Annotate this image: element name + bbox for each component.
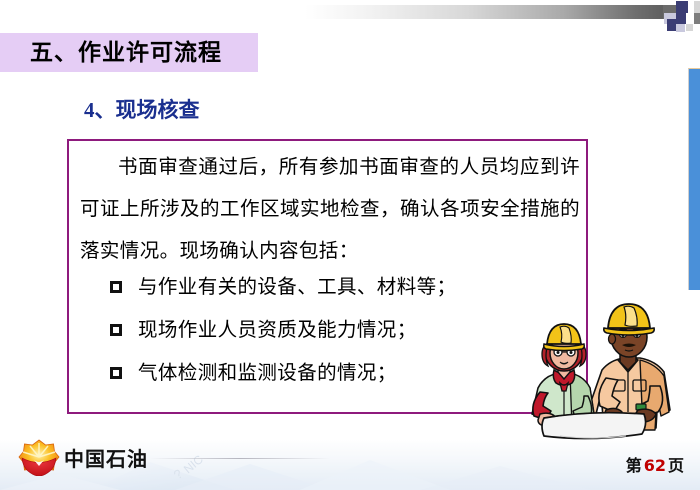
checker-square-white-2	[686, 13, 694, 24]
page-number-value: 62	[642, 456, 668, 475]
two-workers-with-blueprint-illustration	[500, 300, 700, 450]
list-item: 气体检测和监测设备的情况；	[110, 358, 540, 401]
checker-square-navy-3	[667, 19, 676, 31]
page-number-prefix: 第	[626, 456, 642, 475]
brand-label: 中国石油	[64, 443, 148, 472]
bullet-list: 与作业有关的设备、工具、材料等； 现场作业人员资质及能力情况； 气体检测和监测设…	[110, 272, 540, 401]
footer-divider-line	[150, 458, 330, 459]
slide-canvas: 五、作业许可流程 4、现场核查 书面审查通过后，所有参加书面审查的人员均应到许可…	[0, 0, 700, 490]
page-number: 第62页	[626, 452, 684, 476]
hollow-square-bullet-icon	[110, 281, 122, 293]
section-subtitle: 4、现场核查	[84, 94, 200, 124]
hollow-square-bullet-icon	[110, 367, 122, 379]
list-item: 与作业有关的设备、工具、材料等；	[110, 272, 540, 315]
list-item-label: 与作业有关的设备、工具、材料等；	[138, 272, 456, 303]
checker-square-ltgray-2	[686, 24, 693, 31]
body-paragraph: 书面审查通过后，所有参加书面审查的人员均应到许可证上所涉及的工作区域实地检查，确…	[80, 147, 580, 273]
page-number-suffix: 页	[668, 456, 684, 475]
checker-square-gray-1	[694, 13, 700, 24]
top-gradient-bar	[305, 5, 665, 19]
checker-square-lavender-2	[676, 24, 685, 32]
checker-square-ltgray-1	[694, 1, 700, 13]
list-item-label: 现场作业人员资质及能力情况；	[138, 315, 417, 346]
right-accent-bar	[688, 68, 700, 290]
checker-square-navy-2	[676, 13, 686, 24]
petrochina-gem-flower-logo-icon	[18, 438, 60, 476]
hollow-square-bullet-icon	[110, 324, 122, 336]
checker-square-navy-1	[676, 1, 688, 13]
list-item: 现场作业人员资质及能力情况；	[110, 315, 540, 358]
page-title: 五、作业许可流程	[30, 36, 260, 70]
list-item-label: 气体检测和监测设备的情况；	[138, 358, 397, 389]
